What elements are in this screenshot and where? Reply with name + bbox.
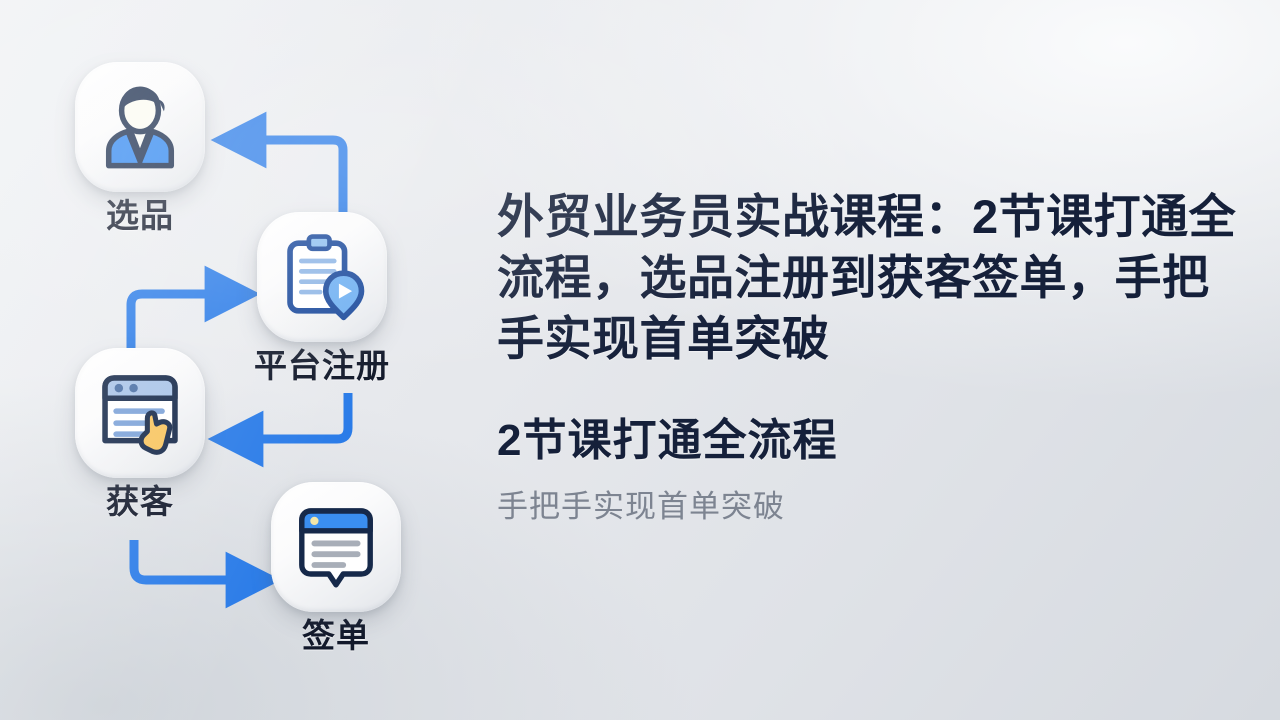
course-headline: 外贸业务员实战课程：2节课打通全流程，选品注册到获客签单，手把手实现首单突破	[497, 186, 1249, 369]
flow-node-pingtai-label: 平台注册	[248, 348, 396, 385]
flow-node-qiandan[interactable]: 签单	[262, 482, 410, 655]
course-copy-block: 外贸业务员实战课程：2节课打通全流程，选品注册到获客签单，手把手实现首单突破 2…	[497, 186, 1249, 525]
course-tagline: 手把手实现首单突破	[497, 488, 1249, 525]
flow-node-xuanpin-tile[interactable]	[75, 62, 205, 192]
flow-node-huoke-label: 获客	[66, 484, 214, 521]
flow-node-pingtai[interactable]: 平台注册	[248, 212, 396, 385]
businessman-icon	[94, 81, 186, 173]
slide-canvas: 选品	[0, 0, 1280, 720]
workflow-diagram: 选品	[0, 0, 480, 720]
flow-node-huoke-tile[interactable]	[75, 348, 205, 478]
clipboard-location-icon	[275, 230, 369, 324]
speech-card-icon	[291, 502, 381, 592]
arrow-pingtai-to-huoke	[240, 393, 348, 439]
flow-node-pingtai-tile[interactable]	[257, 212, 387, 342]
flow-node-xuanpin[interactable]: 选品	[66, 62, 214, 235]
course-subhead: 2节课打通全流程	[497, 415, 1249, 468]
flow-node-qiandan-label: 签单	[262, 618, 410, 655]
arrow-huoke-to-pingtai	[131, 294, 228, 348]
browser-cursor-icon	[94, 367, 186, 459]
flow-node-huoke[interactable]: 获客	[66, 348, 214, 521]
arrow-huoke-to-qiandan	[134, 540, 249, 580]
flow-node-qiandan-tile[interactable]	[271, 482, 401, 612]
arrow-pingtai-to-xuanpin	[243, 140, 343, 212]
flow-node-xuanpin-label: 选品	[66, 198, 214, 235]
